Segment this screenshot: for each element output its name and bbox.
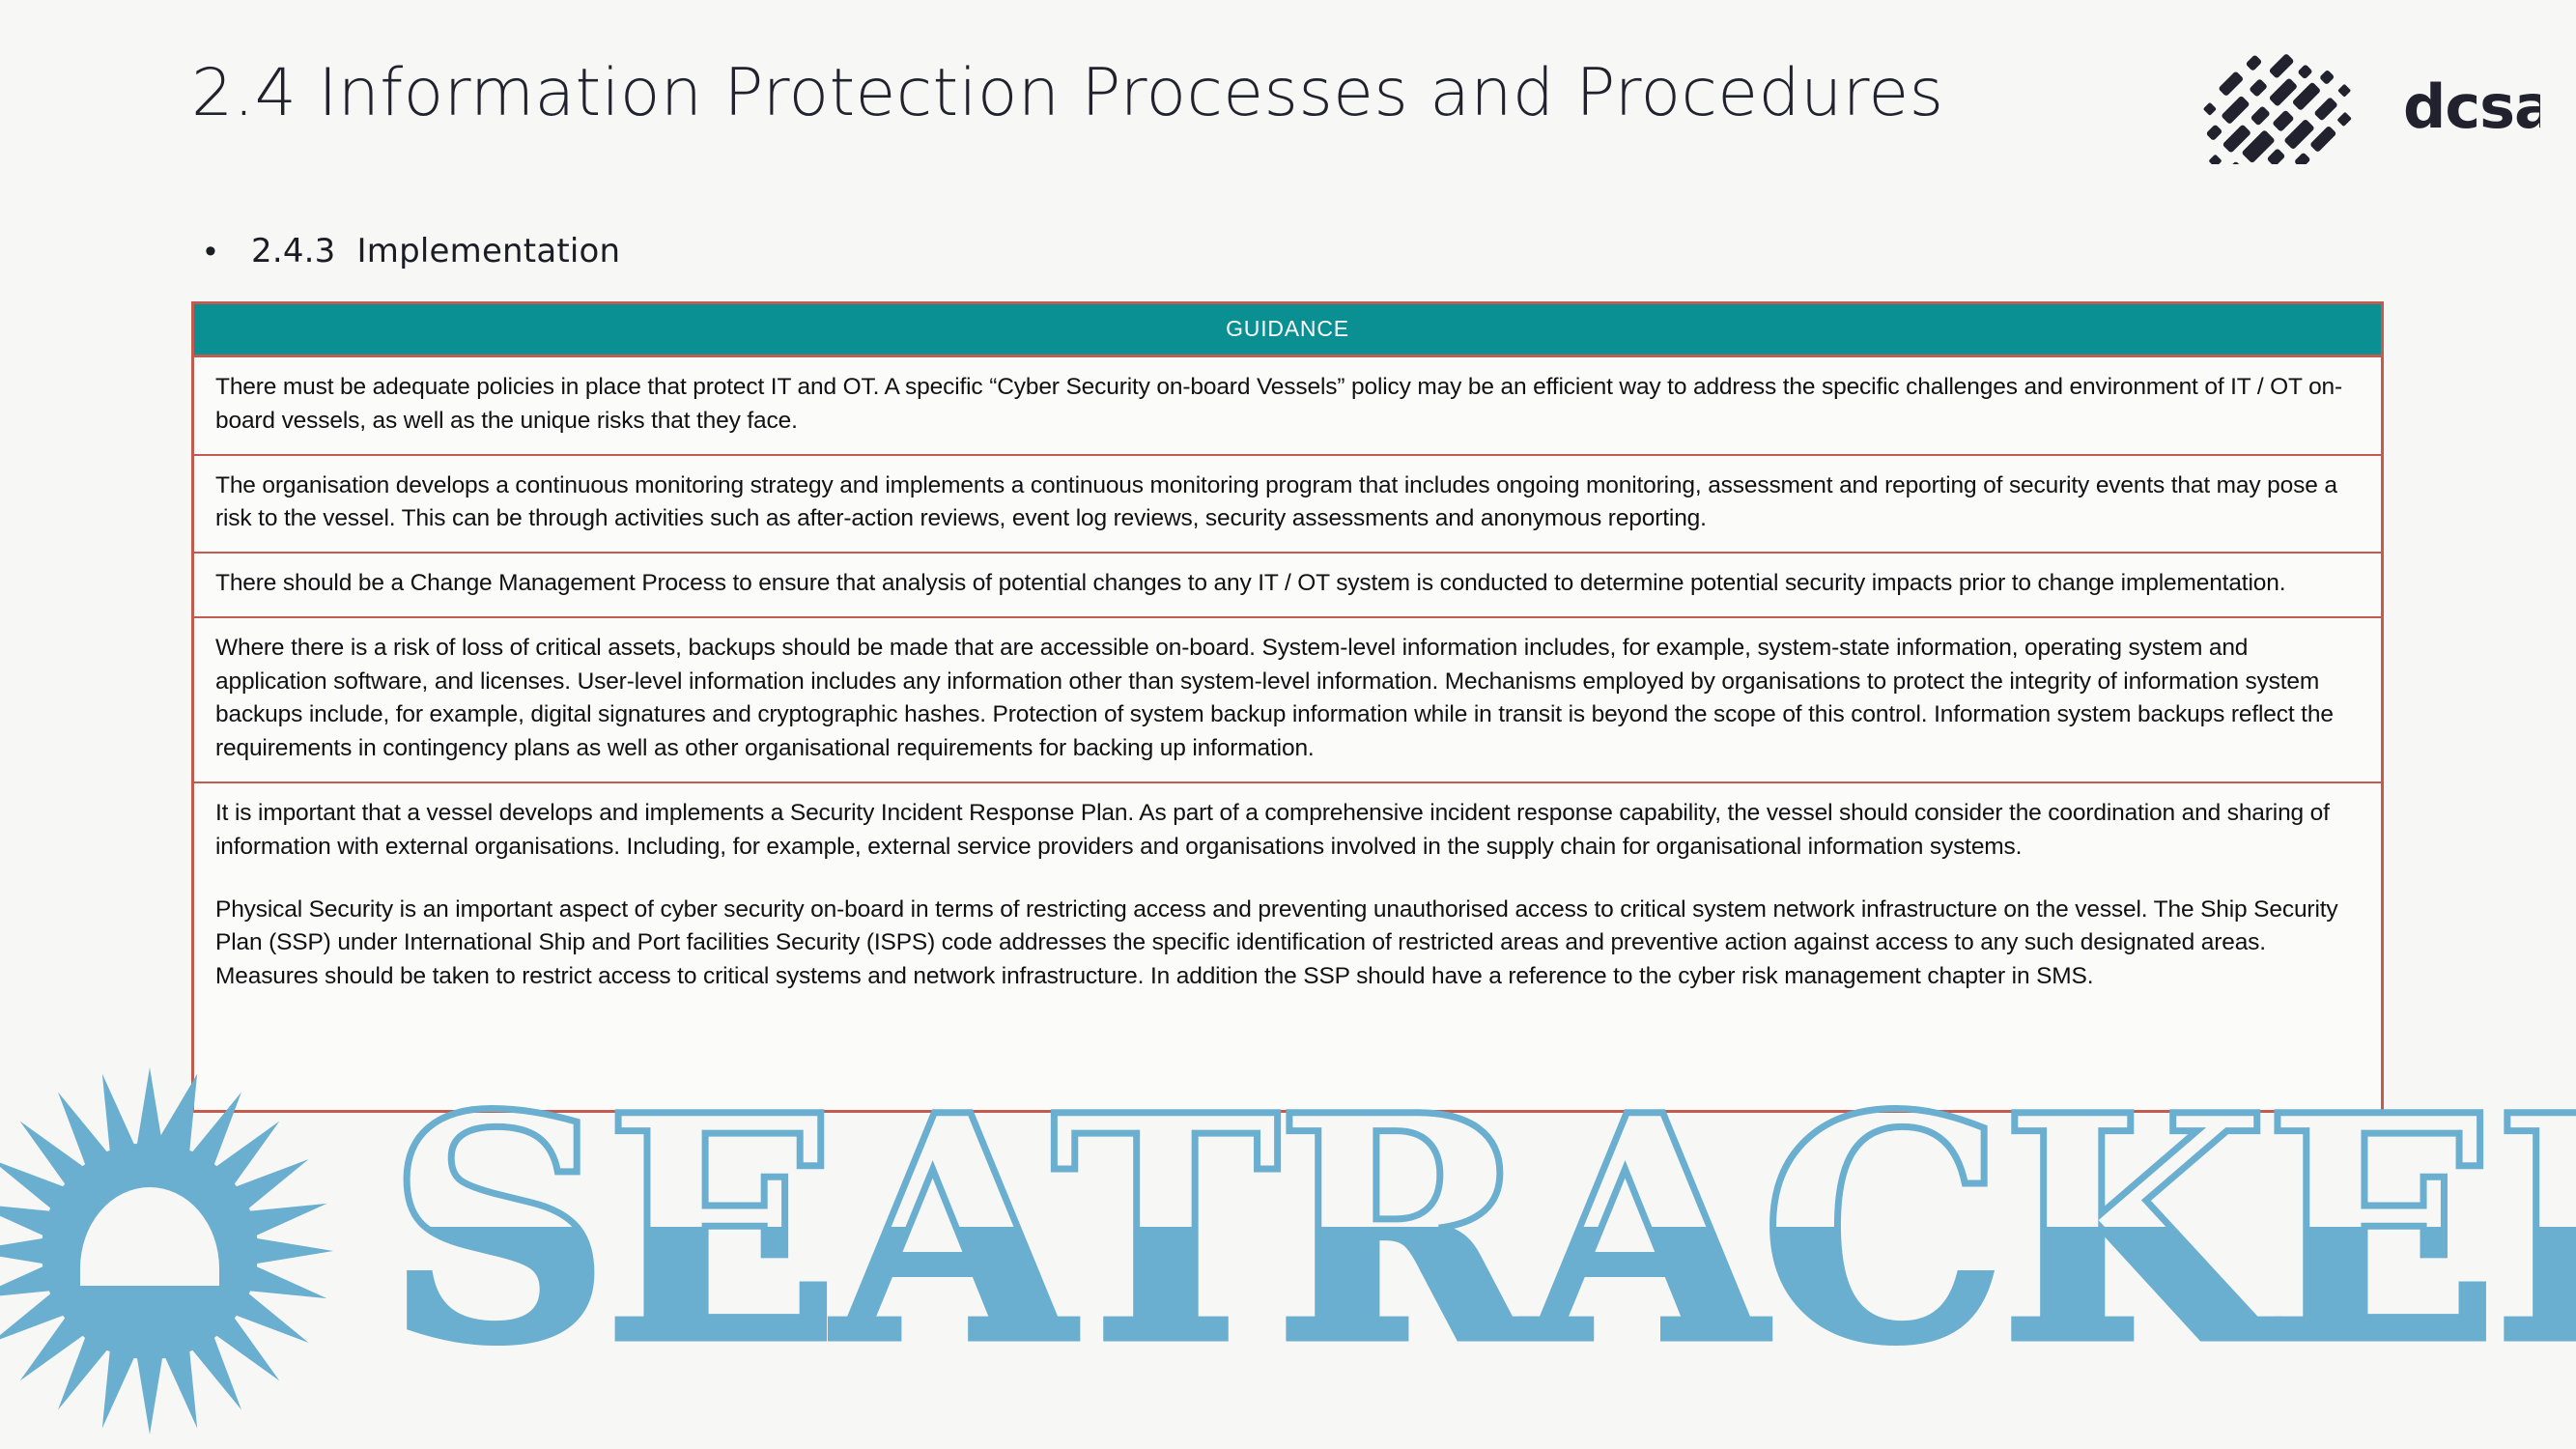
table-row: It is important that a vessel develops a… bbox=[194, 783, 2381, 1110]
page-title: 2.4 Information Protection Processes and… bbox=[191, 58, 1944, 128]
table-row: Where there is a risk of loss of critica… bbox=[194, 618, 2381, 783]
table-row: The organisation develops a continuous m… bbox=[194, 456, 2381, 554]
dcsa-logo-svg: dcsa bbox=[2173, 48, 2540, 164]
slide-canvas: 2.4 Information Protection Processes and… bbox=[0, 0, 2576, 1449]
guidance-paragraph: Where there is a risk of loss of critica… bbox=[215, 632, 2360, 766]
dcsa-wordmark: dcsa bbox=[2403, 71, 2540, 142]
guidance-paragraph: Physical Security is an important aspect… bbox=[215, 894, 2360, 994]
section-bullet-label: 2.4.3 Implementation bbox=[251, 232, 620, 270]
sun-starburst-icon bbox=[0, 1067, 333, 1435]
section-bullet: • 2.4.3 Implementation bbox=[205, 232, 620, 270]
table-row: There must be adequate policies in place… bbox=[194, 357, 2381, 456]
table-row: There should be a Change Management Proc… bbox=[194, 554, 2381, 618]
guidance-table: GUIDANCE There must be adequate policies… bbox=[191, 301, 2384, 1113]
bullet-marker-icon: • bbox=[205, 235, 251, 268]
dcsa-logo: dcsa bbox=[2173, 48, 2540, 164]
guidance-paragraph: The organisation develops a continuous m… bbox=[215, 469, 2360, 537]
dcsa-logo-dash-pattern bbox=[2173, 48, 2365, 164]
guidance-paragraph: There should be a Change Management Proc… bbox=[215, 567, 2360, 601]
guidance-paragraph: There must be adequate policies in place… bbox=[215, 371, 2360, 439]
guidance-paragraph: It is important that a vessel develops a… bbox=[215, 797, 2360, 865]
guidance-table-header: GUIDANCE bbox=[194, 304, 2381, 357]
